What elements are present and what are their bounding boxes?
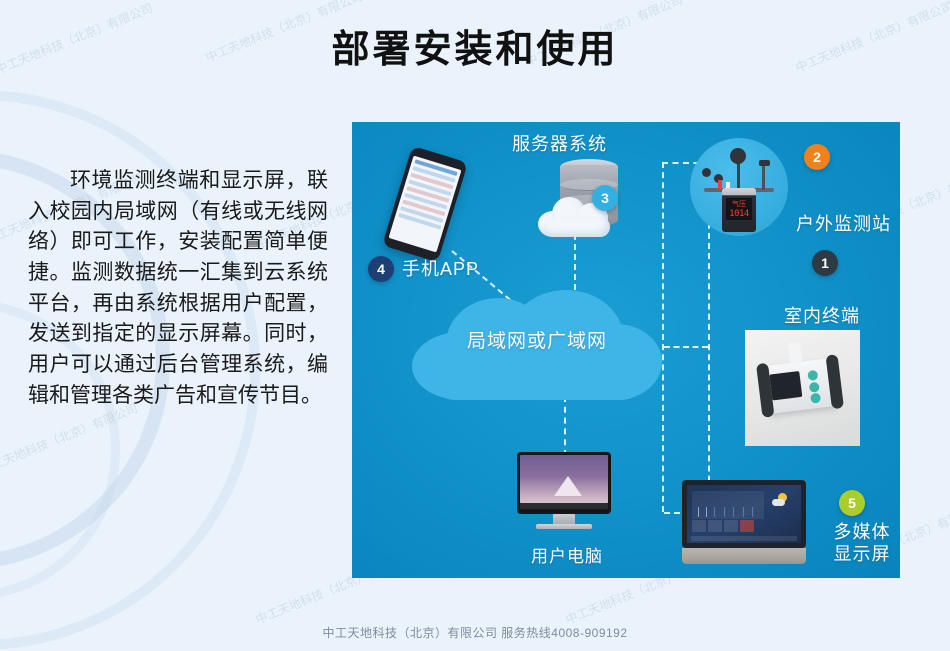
display-screen	[687, 485, 801, 543]
node-badge-2: 2	[804, 144, 830, 170]
sensor-ball	[730, 148, 746, 164]
node-label-indoor-terminal: 室内终端	[784, 302, 860, 328]
node-label-server-system: 服务器系统	[512, 130, 607, 156]
multimedia-display-icon	[682, 480, 806, 566]
imac-chin	[520, 503, 608, 509]
led-title: 气压	[726, 199, 752, 209]
led-value: 1014	[726, 209, 752, 219]
metric-tile	[724, 520, 738, 532]
station-led-display: 气压 1014	[726, 198, 752, 220]
node-badge-1: 1	[812, 250, 838, 276]
display-stand	[682, 548, 806, 564]
display-sparkline	[694, 507, 762, 517]
node-badge-5: 5	[839, 490, 865, 516]
weather-sun-cloud-icon	[772, 493, 787, 506]
metric-tile	[692, 520, 706, 532]
terminal-button	[810, 393, 821, 404]
sensor-head	[759, 160, 770, 166]
node-label-user-computer: 用户电脑	[497, 542, 637, 567]
node-badge-3: 3	[592, 185, 618, 211]
node-label-outdoor-station: 户外监测站	[796, 210, 891, 236]
wallpaper-mountain	[554, 476, 582, 496]
display-bezel	[682, 480, 806, 548]
handheld-terminal-photo	[745, 330, 860, 446]
terminal-button	[809, 382, 820, 393]
label-line-2: 显示屏	[822, 544, 900, 566]
imac-frame	[517, 452, 611, 514]
sensor-marker-red	[718, 180, 722, 189]
slide-canvas: 中工天地科技（北京）有限公司 中工天地科技（北京）有限公司 中工天地科技（北京）…	[0, 0, 950, 651]
terminal-body	[762, 358, 837, 414]
anemometer-cup	[702, 168, 711, 177]
imac-desktop-icon	[517, 452, 611, 534]
terminal-probe	[788, 341, 803, 364]
sensor-rod	[762, 164, 765, 190]
imac-stand-foot	[536, 524, 592, 529]
weather-station-icon: 气压 1014	[690, 138, 788, 236]
network-cloud-label: 局域网或广域网	[412, 326, 662, 353]
metric-tile	[708, 520, 722, 532]
terminal-screen	[769, 371, 802, 400]
architecture-diagram-panel: 4 手机APP 服务器系统 3 局域网或广域网	[352, 122, 900, 578]
display-metric-tiles	[692, 520, 754, 532]
node-label-multimedia-display: 多媒体 显示屏	[822, 522, 900, 565]
network-cloud: 局域网或广域网	[412, 290, 662, 400]
body-paragraph: 环境监测终端和显示屏，联入校园内局域网（有线或无线网络）即可工作，安装配置简单便…	[28, 166, 328, 411]
label-line-1: 多媒体	[822, 522, 900, 544]
page-title: 部署安装和使用	[0, 18, 950, 73]
display-ticker-bar	[691, 536, 797, 541]
footer-company-line: 中工天地科技（北京）有限公司 服务热线4008-909192	[0, 624, 950, 641]
imac-screen	[520, 455, 608, 503]
metric-tile	[740, 520, 754, 532]
node-label-mobile-app: 手机APP	[402, 255, 479, 281]
terminal-grip-right	[825, 354, 843, 409]
node-badge-4: 4	[368, 256, 394, 282]
imac-stand-neck	[553, 514, 575, 524]
terminal-button	[807, 370, 818, 381]
